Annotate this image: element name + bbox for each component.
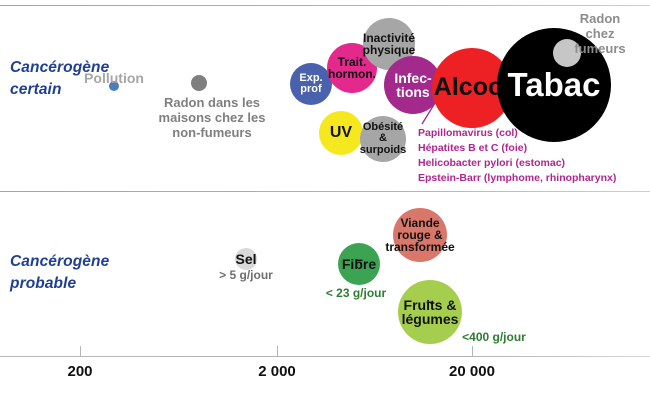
axis-tick-label-20000: 20 000 (449, 363, 495, 380)
annotation-sel-label: Sel (235, 251, 256, 267)
fibre-minus-icon: – (355, 252, 363, 266)
annotation-fruits-dose: <400 g/jour (462, 331, 526, 345)
annotation-pollution-label: Pollution (84, 70, 144, 86)
axis-tick-20000 (472, 346, 473, 356)
axis-tick-200 (80, 346, 81, 356)
bubble-exp-prof[interactable]: Exp. prof (290, 63, 332, 105)
axis-tick-label-200: 200 (67, 363, 92, 380)
bubble-label-inactivite: Inactivité physique (363, 32, 416, 56)
axis-tick-label-2000: 2 000 (258, 363, 296, 380)
bubble-obesite[interactable]: Obésité & surpoids (360, 116, 406, 162)
bubble-label-obesite: Obésité & surpoids (360, 122, 406, 156)
annotation-radon-nonsmokers-label: Radon dans les maisons chez les non-fume… (159, 96, 266, 141)
bubble-radon-nonsmokers[interactable] (191, 75, 207, 91)
bubble-label-tabac: Tabac (497, 68, 611, 102)
annotation-radon-fumeurs-label: Radon chez fumeurs (574, 12, 625, 57)
bubble-chart-figure: Cancérogène certain Cancérogène probable… (0, 0, 650, 400)
bubble-label-viande: Viande rouge & transformée (385, 217, 454, 254)
bubble-label-uv: UV (319, 125, 363, 141)
bubble-fruits-legumes[interactable]: Fruits & légumes (398, 280, 462, 344)
fruits-minus-icon: – (426, 294, 434, 308)
annotation-fibre-dose: < 23 g/jour (326, 287, 386, 301)
bubble-uv[interactable]: UV (319, 111, 363, 155)
bubble-label-exp-prof: Exp. prof (290, 73, 332, 95)
bubble-viande[interactable]: Viande rouge & transformée (393, 208, 447, 262)
infections-callout-list: Papillomavirus (col) Hépatites B et C (f… (418, 126, 616, 186)
annotation-sel-dose: > 5 g/jour (219, 269, 273, 283)
axis-tick-2000 (277, 346, 278, 356)
axis-baseline (0, 356, 650, 357)
